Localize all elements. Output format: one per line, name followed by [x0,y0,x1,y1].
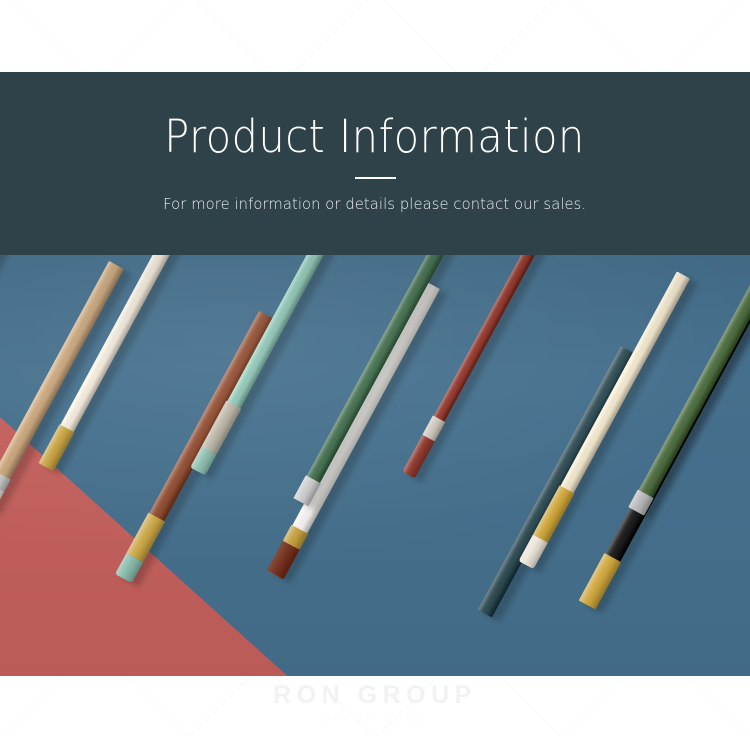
photo-red-surface [0,255,750,676]
footer-watermark: RON GROUP SINCE 2005 [0,676,750,736]
product-information-banner: Product Information For more information… [0,72,750,255]
brown-gold-pencil [116,311,274,583]
title-divider [355,177,396,179]
page-subtitle: For more information or details please c… [163,195,586,213]
brand-tagline: SINCE 2005 [322,714,428,725]
brand-wordmark: RON GROUP [273,682,477,710]
product-information-page: ✕RON GROUP✕RON GROUP✕RON GROUP✕RON GROUP… [0,0,750,736]
ivory-ornate-pencil [519,271,690,568]
pencil-product-photo [0,255,750,676]
page-title: Product Information [165,114,585,159]
